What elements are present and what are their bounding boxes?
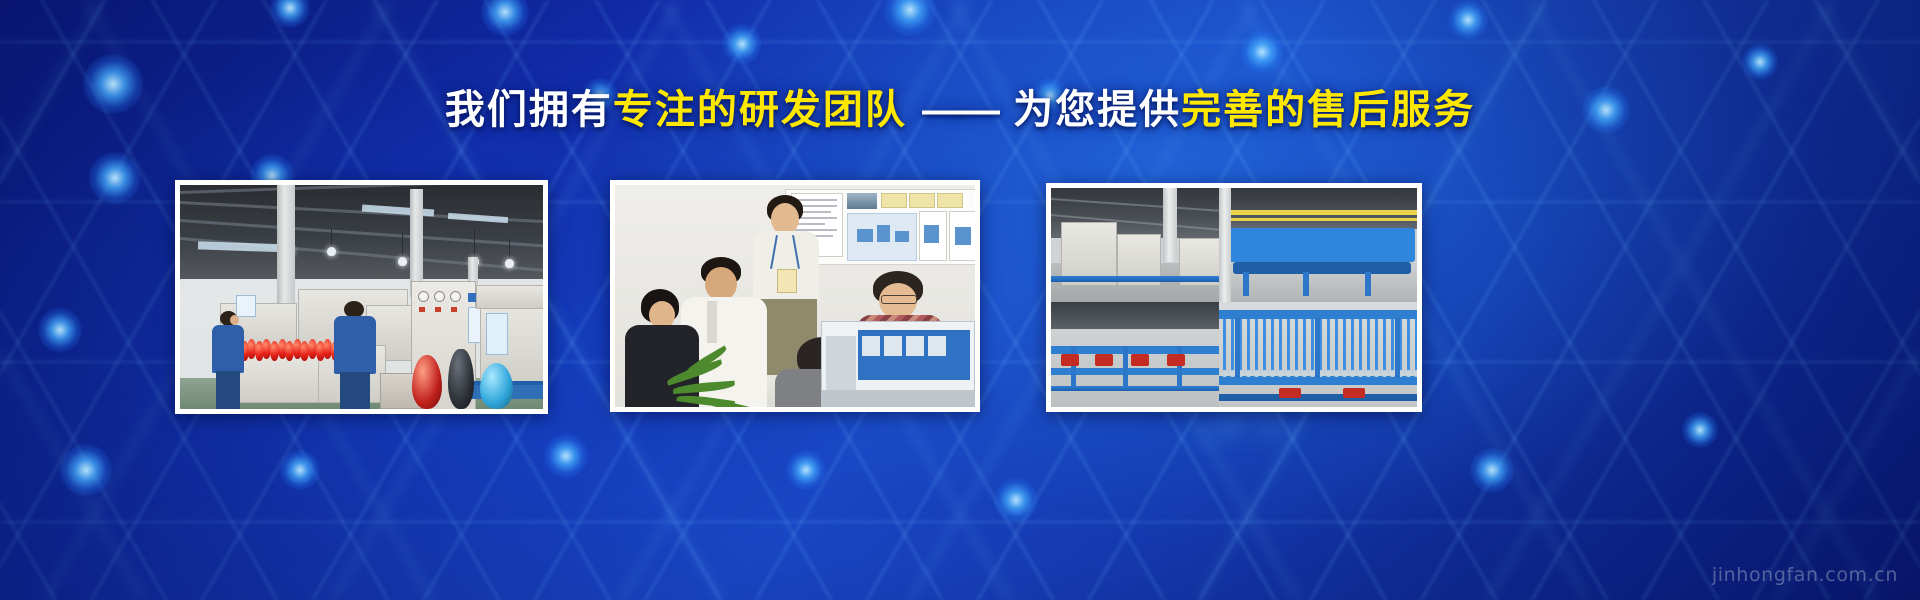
photo-frame-plant-equipment[interactable] [1046,183,1422,412]
photo-factory-line [180,185,543,409]
photo-frame-factory-line[interactable] [175,180,548,414]
photo-frame-team-meeting[interactable] [610,180,980,412]
banner-root: 我们拥有专注的研发团队 —— 为您提供完善的售后服务 [0,0,1920,600]
photo-gallery [0,0,1920,600]
watermark: jinhongfan.com.cn [1712,564,1898,586]
photo-team-meeting [615,185,975,407]
photo-plant-equipment [1051,188,1417,407]
